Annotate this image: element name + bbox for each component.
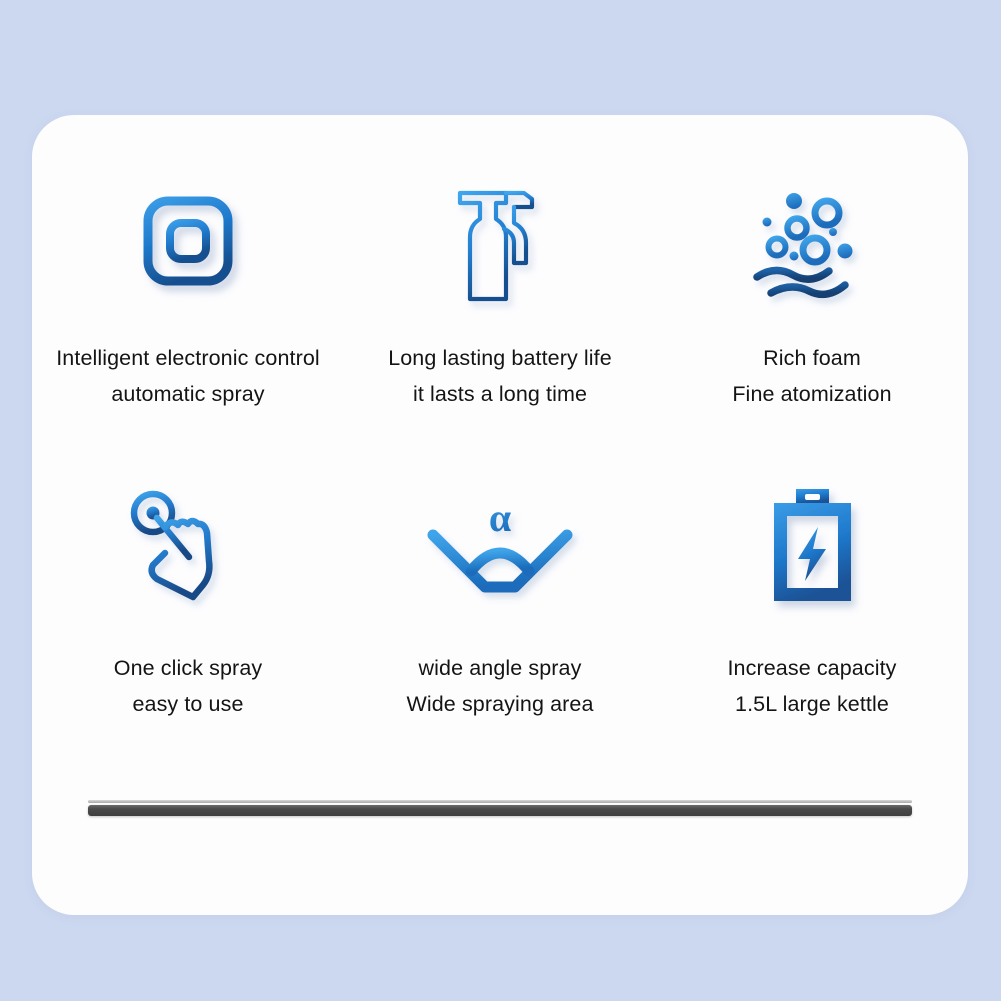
feature-label-line2: automatic spray [56,376,320,412]
alpha-symbol: α [488,495,510,540]
feature-label-line1: Rich foam [732,340,891,376]
feature-label-line1: wide angle spray [406,650,593,686]
feature-row-bottom: One click spray easy to use [32,463,968,763]
feature-label-line2: Fine atomization [732,376,891,412]
divider-light-line [88,800,912,803]
feature-item-one-click: One click spray easy to use [32,463,344,763]
battery-charge-icon [760,463,865,628]
feature-label-line2: Wide spraying area [406,686,593,722]
tap-hand-icon [123,463,253,628]
feature-label: Rich foam Fine atomization [732,340,891,412]
feature-label-line1: One click spray [114,650,262,686]
divider-dark-bar [88,805,912,816]
feature-label: Long lasting battery life it lasts a lon… [388,340,612,412]
feature-row-top: Intelligent electronic control automatic… [32,153,968,463]
feature-label-line1: Long lasting battery life [388,340,612,376]
feature-label: One click spray easy to use [114,650,262,722]
feature-card: Intelligent electronic control automatic… [32,115,968,915]
feature-item-capacity: Increase capacity 1.5L large kettle [656,463,968,763]
spray-bottle-icon [440,153,560,328]
feature-item-wide-angle: α wide angle spray [344,463,656,763]
feature-item-rich-foam: Rich foam Fine atomization [656,153,968,463]
wide-angle-icon: α [423,463,578,628]
feature-item-battery-life: Long lasting battery life it lasts a lon… [344,153,656,463]
feature-label-line2: 1.5L large kettle [727,686,896,722]
infographic-root: Intelligent electronic control automatic… [0,0,1001,1001]
cpu-chip-icon [124,153,252,328]
bottom-divider [88,800,912,816]
feature-label-line2: it lasts a long time [388,376,612,412]
feature-label: wide angle spray Wide spraying area [406,650,593,722]
feature-grid: Intelligent electronic control automatic… [32,153,968,763]
feature-item-intelligent-control: Intelligent electronic control automatic… [32,153,344,463]
feature-label: Increase capacity 1.5L large kettle [727,650,896,722]
feature-label: Intelligent electronic control automatic… [56,340,320,412]
foam-bubbles-icon [747,153,877,328]
feature-label-line1: Increase capacity [727,650,896,686]
feature-label-line2: easy to use [114,686,262,722]
feature-label-line1: Intelligent electronic control [56,340,320,376]
